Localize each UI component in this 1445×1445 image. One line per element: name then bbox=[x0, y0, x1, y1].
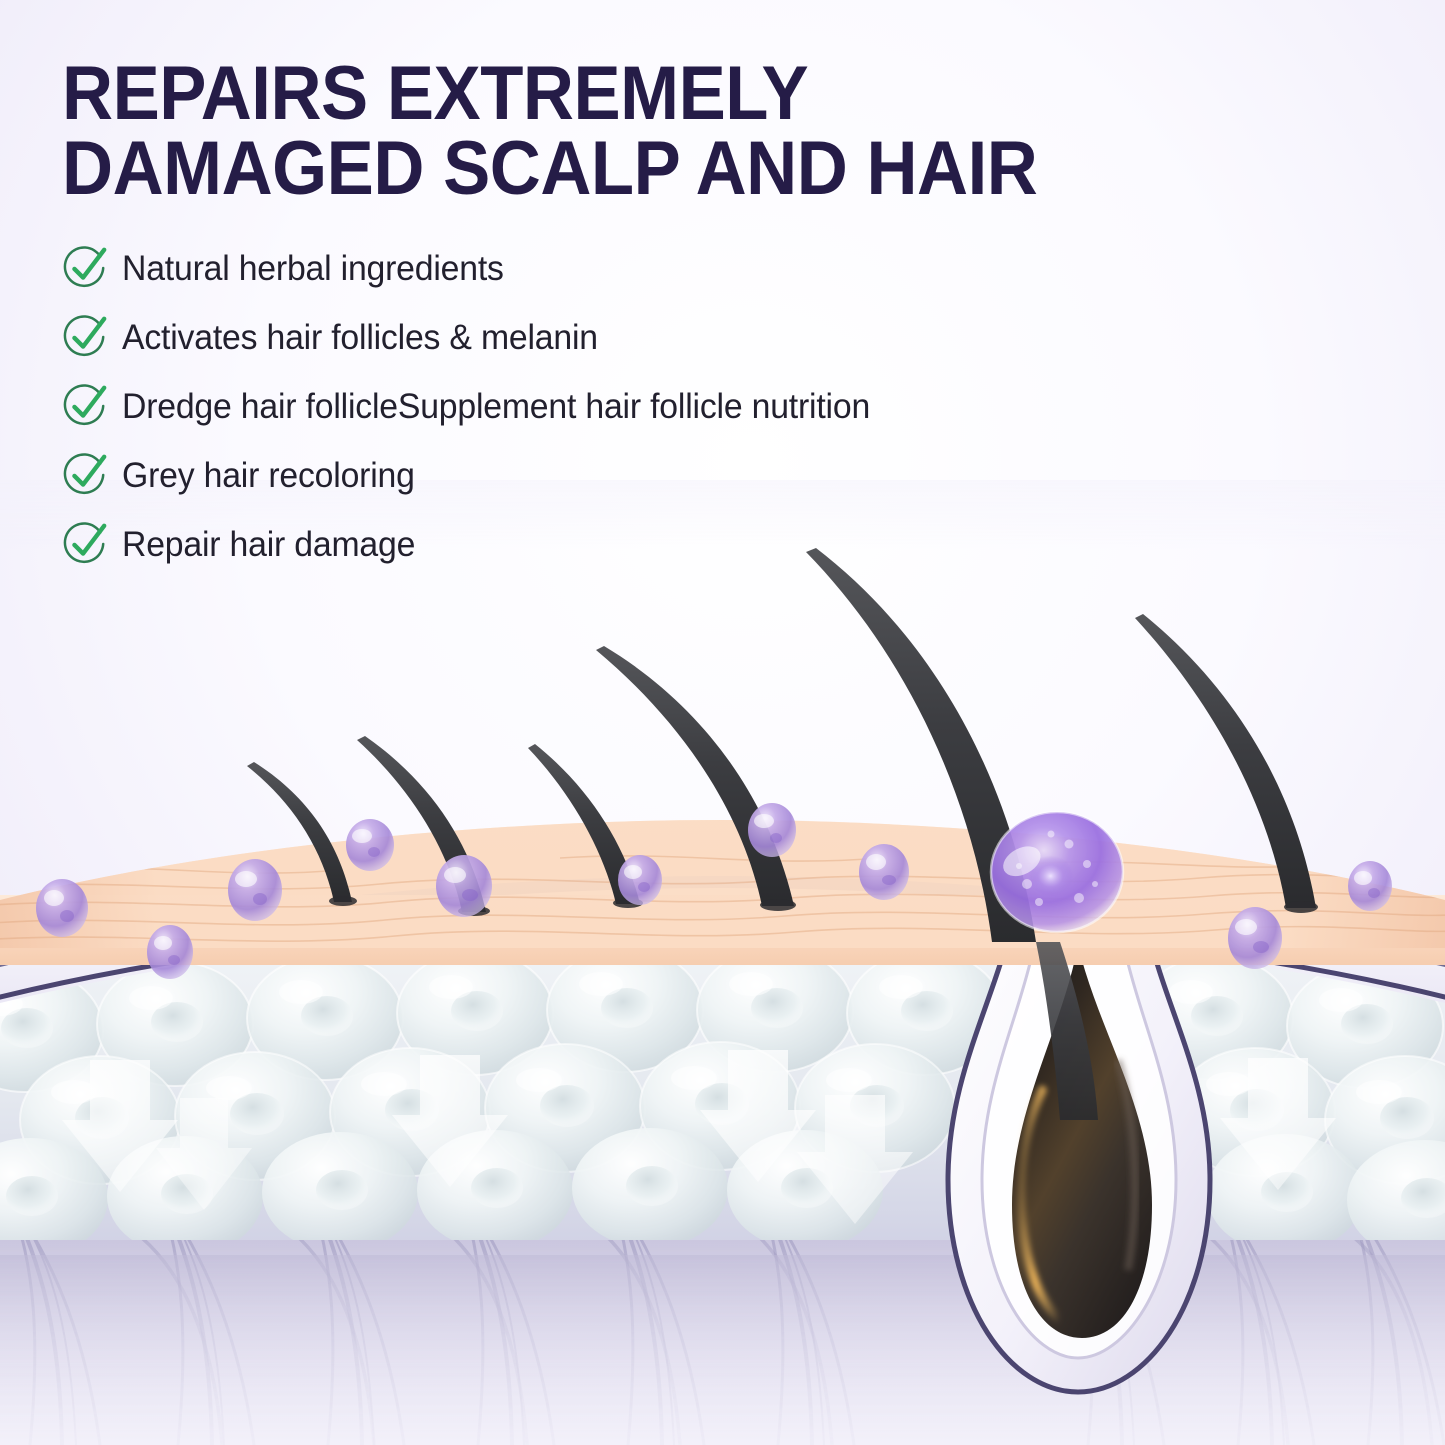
hair-follicle-structure bbox=[948, 930, 1210, 1392]
check-circle-icon bbox=[62, 245, 108, 291]
list-item-label: Dredge hair follicleSupplement hair foll… bbox=[122, 387, 870, 426]
check-circle-icon bbox=[62, 314, 108, 360]
list-item: Activates hair follicles & melanin bbox=[62, 309, 1405, 365]
check-circle-icon bbox=[62, 383, 108, 429]
benefits-list: Natural herbal ingredients Activates hai… bbox=[62, 240, 1405, 572]
infographic-poster: REPAIRS EXTREMELY DAMAGED SCALP AND HAIR… bbox=[0, 0, 1445, 1445]
list-item-label: Natural herbal ingredients bbox=[122, 249, 504, 288]
list-item: Natural herbal ingredients bbox=[62, 240, 1405, 296]
list-item: Grey hair recoloring bbox=[62, 447, 1405, 503]
list-item-label: Activates hair follicles & melanin bbox=[122, 318, 598, 357]
page-title: REPAIRS EXTREMELY DAMAGED SCALP AND HAIR bbox=[62, 56, 1311, 206]
list-item-label: Grey hair recoloring bbox=[122, 456, 415, 495]
copy-block: REPAIRS EXTREMELY DAMAGED SCALP AND HAIR… bbox=[0, 0, 1445, 585]
large-serum-droplet bbox=[991, 812, 1123, 932]
list-item-label: Repair hair damage bbox=[122, 525, 415, 564]
list-item: Dredge hair follicleSupplement hair foll… bbox=[62, 378, 1405, 434]
check-circle-icon bbox=[62, 452, 108, 498]
list-item: Repair hair damage bbox=[62, 516, 1405, 572]
check-circle-icon bbox=[62, 521, 108, 567]
